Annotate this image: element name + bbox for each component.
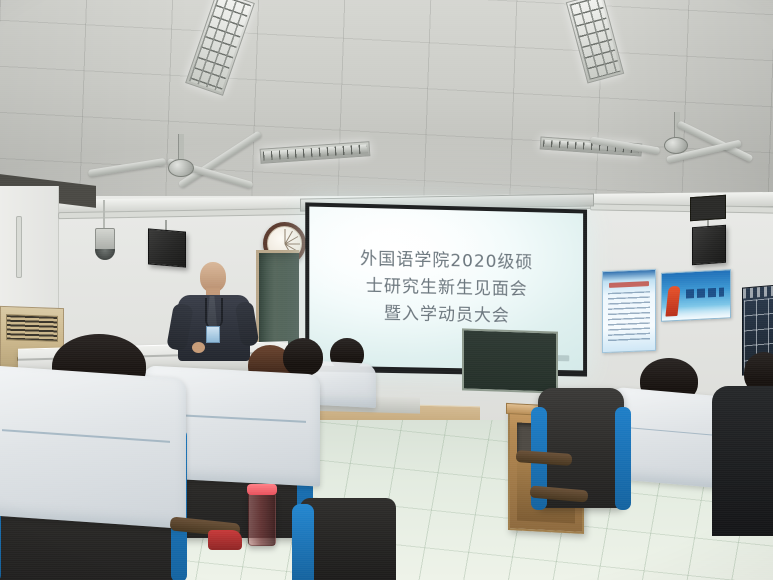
wall-board (462, 328, 558, 393)
seat-cover (0, 365, 186, 529)
slide-line-3: 暨入学动员大会 (321, 299, 571, 331)
presenter-badge (206, 326, 220, 343)
presenter-lanyard (205, 298, 223, 328)
seat-side-panel (292, 504, 314, 580)
wall-poster-rules (602, 269, 656, 353)
pink-water-bottle (248, 492, 276, 546)
audience-seat[interactable] (300, 498, 396, 580)
red-shoe (208, 530, 242, 550)
presenter-hand (192, 342, 205, 353)
slide-title-text: 外国语学院2020级硕 士研究生新生见面会 暨入学动员大会 (309, 245, 583, 332)
wall-poster-banner (661, 269, 731, 322)
wall-monitor (690, 195, 726, 222)
student-body (712, 386, 773, 536)
electrical-conduit (16, 216, 22, 278)
student-head (283, 338, 323, 376)
ceiling-shading (0, 0, 773, 205)
dome-camera-icon (95, 228, 115, 252)
ceiling (0, 0, 773, 205)
wall-speaker (692, 225, 726, 265)
camera-bracket (103, 200, 105, 230)
presenter (172, 262, 260, 360)
classroom-photo: 外国语学院2020级硕 士研究生新生见面会 暨入学动员大会 (0, 0, 773, 580)
